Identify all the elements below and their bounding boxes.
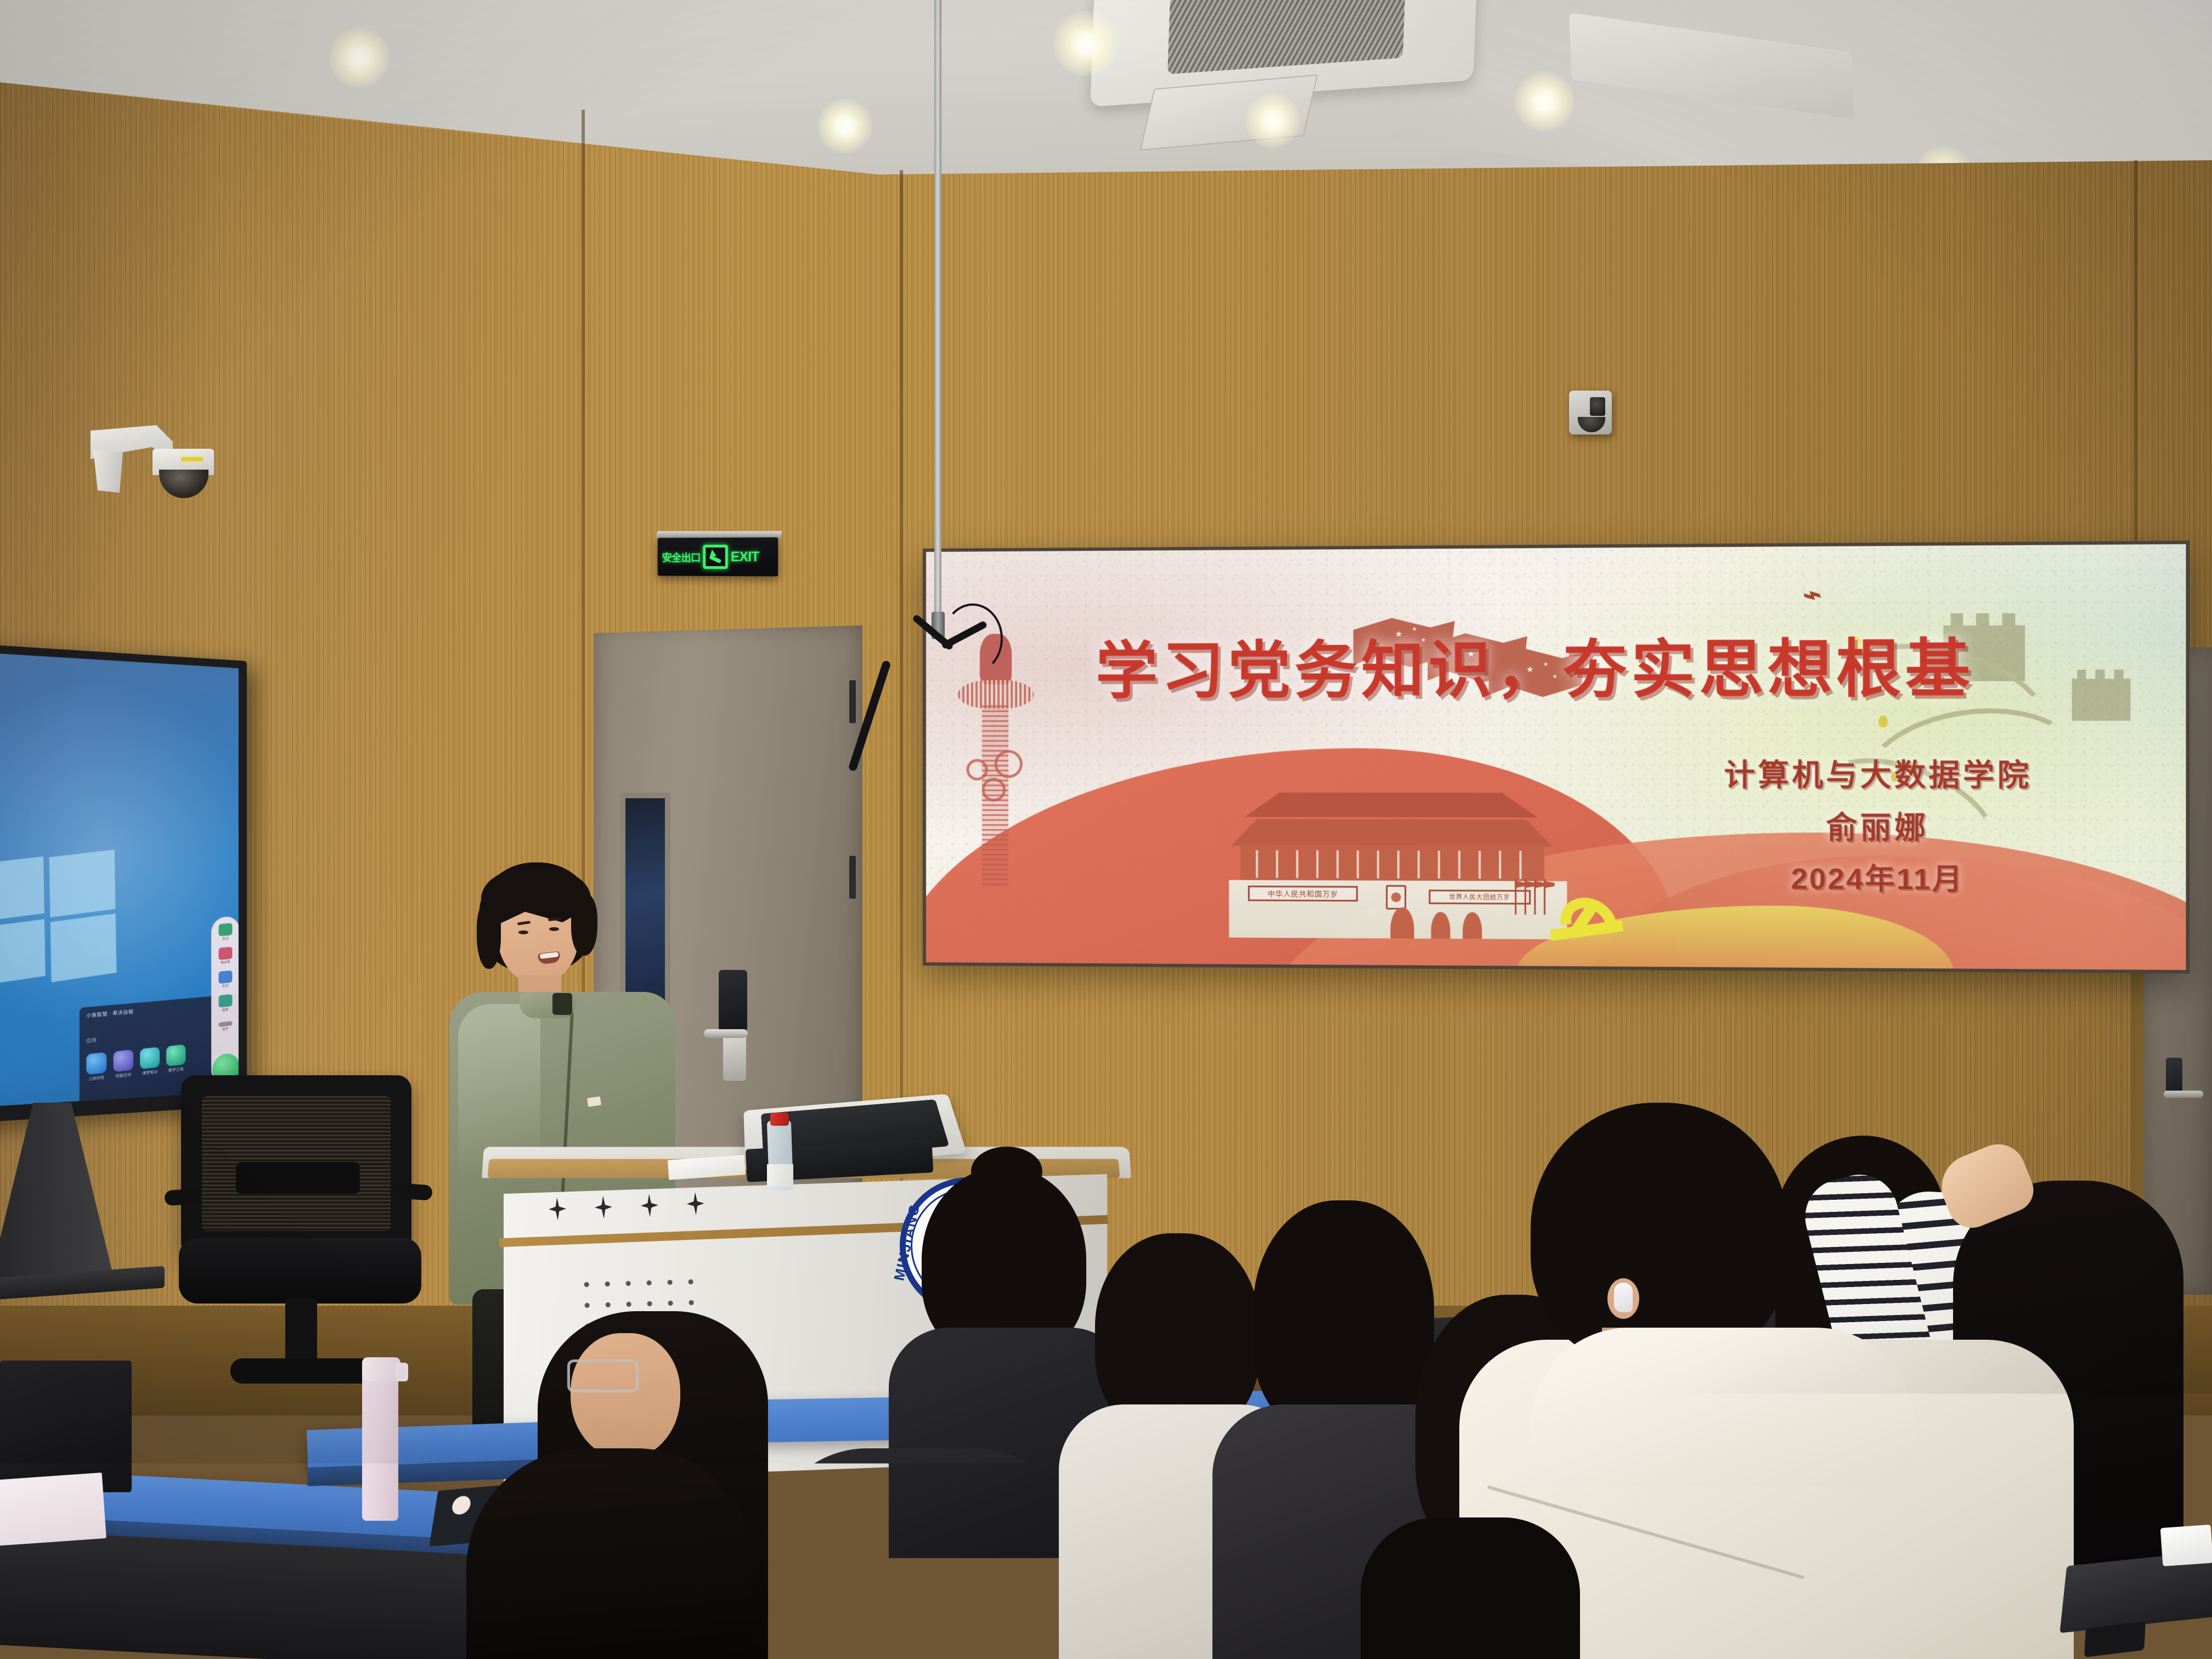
bottle-label-text: 茶 xyxy=(737,1531,757,1545)
downlight-icon xyxy=(1245,93,1300,148)
green-tea-bottle[interactable] xyxy=(724,1488,767,1659)
door-lock-icon[interactable] xyxy=(719,970,747,1031)
slide-date: 2024年11月 xyxy=(1675,855,2081,899)
slide-subtitle-block: 计算机与大数据学院 俞丽娜 2024年11月 xyxy=(1675,751,2081,899)
star-icon xyxy=(686,1192,705,1215)
pen-icon xyxy=(219,923,233,936)
glasses-icon xyxy=(567,1359,639,1392)
star-icon xyxy=(640,1194,659,1217)
app-tile[interactable]: 教学工具 xyxy=(166,1045,185,1074)
tissue-pack xyxy=(2160,1525,2212,1566)
chair-base xyxy=(230,1358,379,1384)
downlight-icon xyxy=(329,27,390,88)
app-tile[interactable]: 上网浏览 xyxy=(86,1052,106,1082)
exit-sign: 安全出口 EXIT xyxy=(658,537,778,576)
exit-sign-english-label: EXIT xyxy=(731,549,759,565)
student-hair-bun xyxy=(971,1147,1042,1196)
chair-seat[interactable] xyxy=(179,1238,421,1304)
thermos-clip xyxy=(395,1363,408,1381)
downlight-icon xyxy=(1053,11,1119,77)
interactive-whiteboard[interactable]: 小鱼智慧 · 希沃白板 应用 上网浏览 网盘空间 课堂笔记 xyxy=(0,639,247,1128)
whiteboard-screen[interactable]: 小鱼智慧 · 希沃白板 应用 上网浏览 网盘空间 课堂笔记 xyxy=(0,647,239,1111)
door-hinge xyxy=(849,680,856,723)
slide-title: 学习党务知识，夯实思想根基 xyxy=(1096,618,1974,710)
pink-thermos[interactable] xyxy=(362,1362,398,1521)
door-handle-right[interactable] xyxy=(2164,1091,2203,1098)
presenter-badge xyxy=(587,1096,601,1107)
tiananmen-banner-left: 中华人民共和国万岁 xyxy=(1248,885,1358,901)
chair-lumbar-support xyxy=(236,1162,360,1194)
bottle-cap xyxy=(730,1466,761,1482)
toolbar-item[interactable]: 批注 xyxy=(211,922,239,942)
paper-sheet xyxy=(0,1472,106,1547)
windows-logo-icon xyxy=(0,853,117,981)
exit-sign-chinese-label: 安全出口 xyxy=(662,550,701,565)
cpc-party-emblem-icon xyxy=(1545,889,1631,961)
toolbar-item[interactable]: 橡皮擦 xyxy=(211,946,239,966)
chart-icon xyxy=(219,994,233,1008)
app-tile[interactable]: 网盘空间 xyxy=(114,1049,133,1080)
door-hinge xyxy=(849,856,856,899)
downlight-icon xyxy=(1514,71,1575,132)
popup-icon-row: 上网浏览 网盘空间 课堂笔记 教学工具 xyxy=(86,1045,185,1082)
hoodie-hood xyxy=(1531,1328,1915,1487)
lecture-hall-photo: 安全出口 EXIT xyxy=(0,0,2212,1659)
note-icon xyxy=(140,1047,160,1069)
student-head xyxy=(1531,1103,1788,1366)
browser-icon xyxy=(86,1052,106,1075)
camera-label xyxy=(181,457,203,461)
toolbar-item[interactable]: 图表 xyxy=(211,994,239,1014)
projection-screen: ⌁ ★ ★ ★ ★ ★ ★ ★ ★ ★ xyxy=(923,541,2190,974)
eraser-icon xyxy=(219,947,233,960)
student-hair xyxy=(466,1448,752,1659)
downlight-icon xyxy=(817,99,872,154)
toolbar-item[interactable]: 更多 xyxy=(211,1020,239,1033)
popup-header: 小鱼智慧 · 希沃白板 xyxy=(86,1008,133,1019)
microphone-pole xyxy=(934,0,941,617)
water-bottle-cap xyxy=(770,1113,789,1126)
door-lock-icon[interactable] xyxy=(2166,1058,2182,1092)
slide-speaker-name: 俞丽娜 xyxy=(1675,803,2081,848)
app-tile[interactable]: 课堂笔记 xyxy=(140,1047,160,1076)
chair-armrest xyxy=(164,1188,202,1206)
chair-armrest xyxy=(390,1182,433,1200)
slide-organization: 计算机与大数据学院 xyxy=(1675,751,2081,795)
presentation-slide: ⌁ ★ ★ ★ ★ ★ ★ ★ ★ ★ xyxy=(926,544,2186,970)
tiananmen-gate-icon: 中华人民共和国万岁 世界人民大团结万岁 xyxy=(1224,771,1574,939)
student-head xyxy=(1253,1200,1434,1436)
decor-speck xyxy=(1878,715,1888,728)
earbud-icon xyxy=(1614,1283,1633,1312)
camera-mount-post xyxy=(93,450,123,493)
water-bottle-label xyxy=(767,1164,793,1186)
door-handle-left[interactable] xyxy=(704,1029,748,1038)
sensor-lens xyxy=(1590,397,1605,416)
equipment-panel xyxy=(0,1361,132,1492)
national-emblem-icon xyxy=(1386,885,1406,910)
student-head xyxy=(1361,1517,1580,1659)
tools-icon xyxy=(166,1045,185,1066)
cloud-icon xyxy=(114,1049,133,1072)
student-body xyxy=(768,1448,1075,1659)
shape-icon xyxy=(219,970,233,984)
star-icon xyxy=(594,1195,613,1219)
star-icon xyxy=(548,1197,567,1221)
running-man-icon xyxy=(703,545,727,569)
popup-section-label: 应用 xyxy=(86,1036,97,1044)
chair-post xyxy=(285,1298,317,1364)
flagpole-row xyxy=(1515,879,1545,915)
toolbar-item[interactable]: 形状 xyxy=(211,969,239,989)
student-face xyxy=(571,1333,680,1459)
